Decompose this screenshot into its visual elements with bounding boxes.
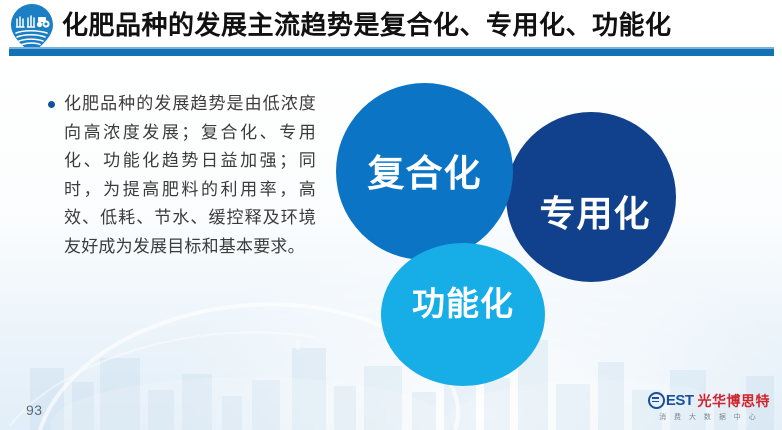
circle-functional-label: 功能化	[412, 277, 514, 325]
slide-header: 化肥品种的发展主流趋势是复合化、专用化、功能化	[0, 0, 782, 57]
circle-dedicated: 专用化	[506, 112, 676, 282]
bullet-item-text: 化肥品种的发展趋势是由低浓度向高浓度发展；复合化、专用化、功能化趋势日益加强；同…	[64, 90, 316, 261]
brand-latin-text: EST	[666, 392, 694, 409]
list-item: 化肥品种的发展趋势是由低浓度向高浓度发展；复合化、专用化、功能化趋势日益加强；同…	[48, 90, 316, 261]
bullet-list: 化肥品种的发展趋势是由低浓度向高浓度发展；复合化、专用化、功能化趋势日益加强；同…	[48, 90, 316, 261]
circle-compound-label: 复合化	[368, 143, 482, 197]
brand-subtitle: 消 费 大 数 据 中 心	[659, 412, 759, 422]
circle-functional: 功能化	[381, 243, 545, 386]
brand-e-badge-icon	[648, 392, 665, 409]
brand-logo: EST 光华博思特 消 费 大 数 据 中 心	[648, 390, 770, 422]
brand-chinese-text: 光华博思特	[698, 391, 771, 411]
slide: 化肥品种的发展主流趋势是复合化、专用化、功能化 化肥品种的发展趋势是由低浓度向高…	[0, 0, 782, 430]
brand-logo-main: EST 光华博思特	[648, 391, 770, 411]
circle-dedicated-label: 专用化	[539, 185, 650, 237]
page-title: 化肥品种的发展主流趋势是复合化、专用化、功能化	[62, 8, 774, 42]
brand-latin-wordmark: EST	[648, 392, 694, 409]
header-accent-bar-highlight	[9, 47, 774, 49]
circle-compound: 复合化	[336, 83, 513, 260]
page-number: 93	[26, 402, 43, 418]
bullet-dot-icon	[48, 101, 55, 108]
